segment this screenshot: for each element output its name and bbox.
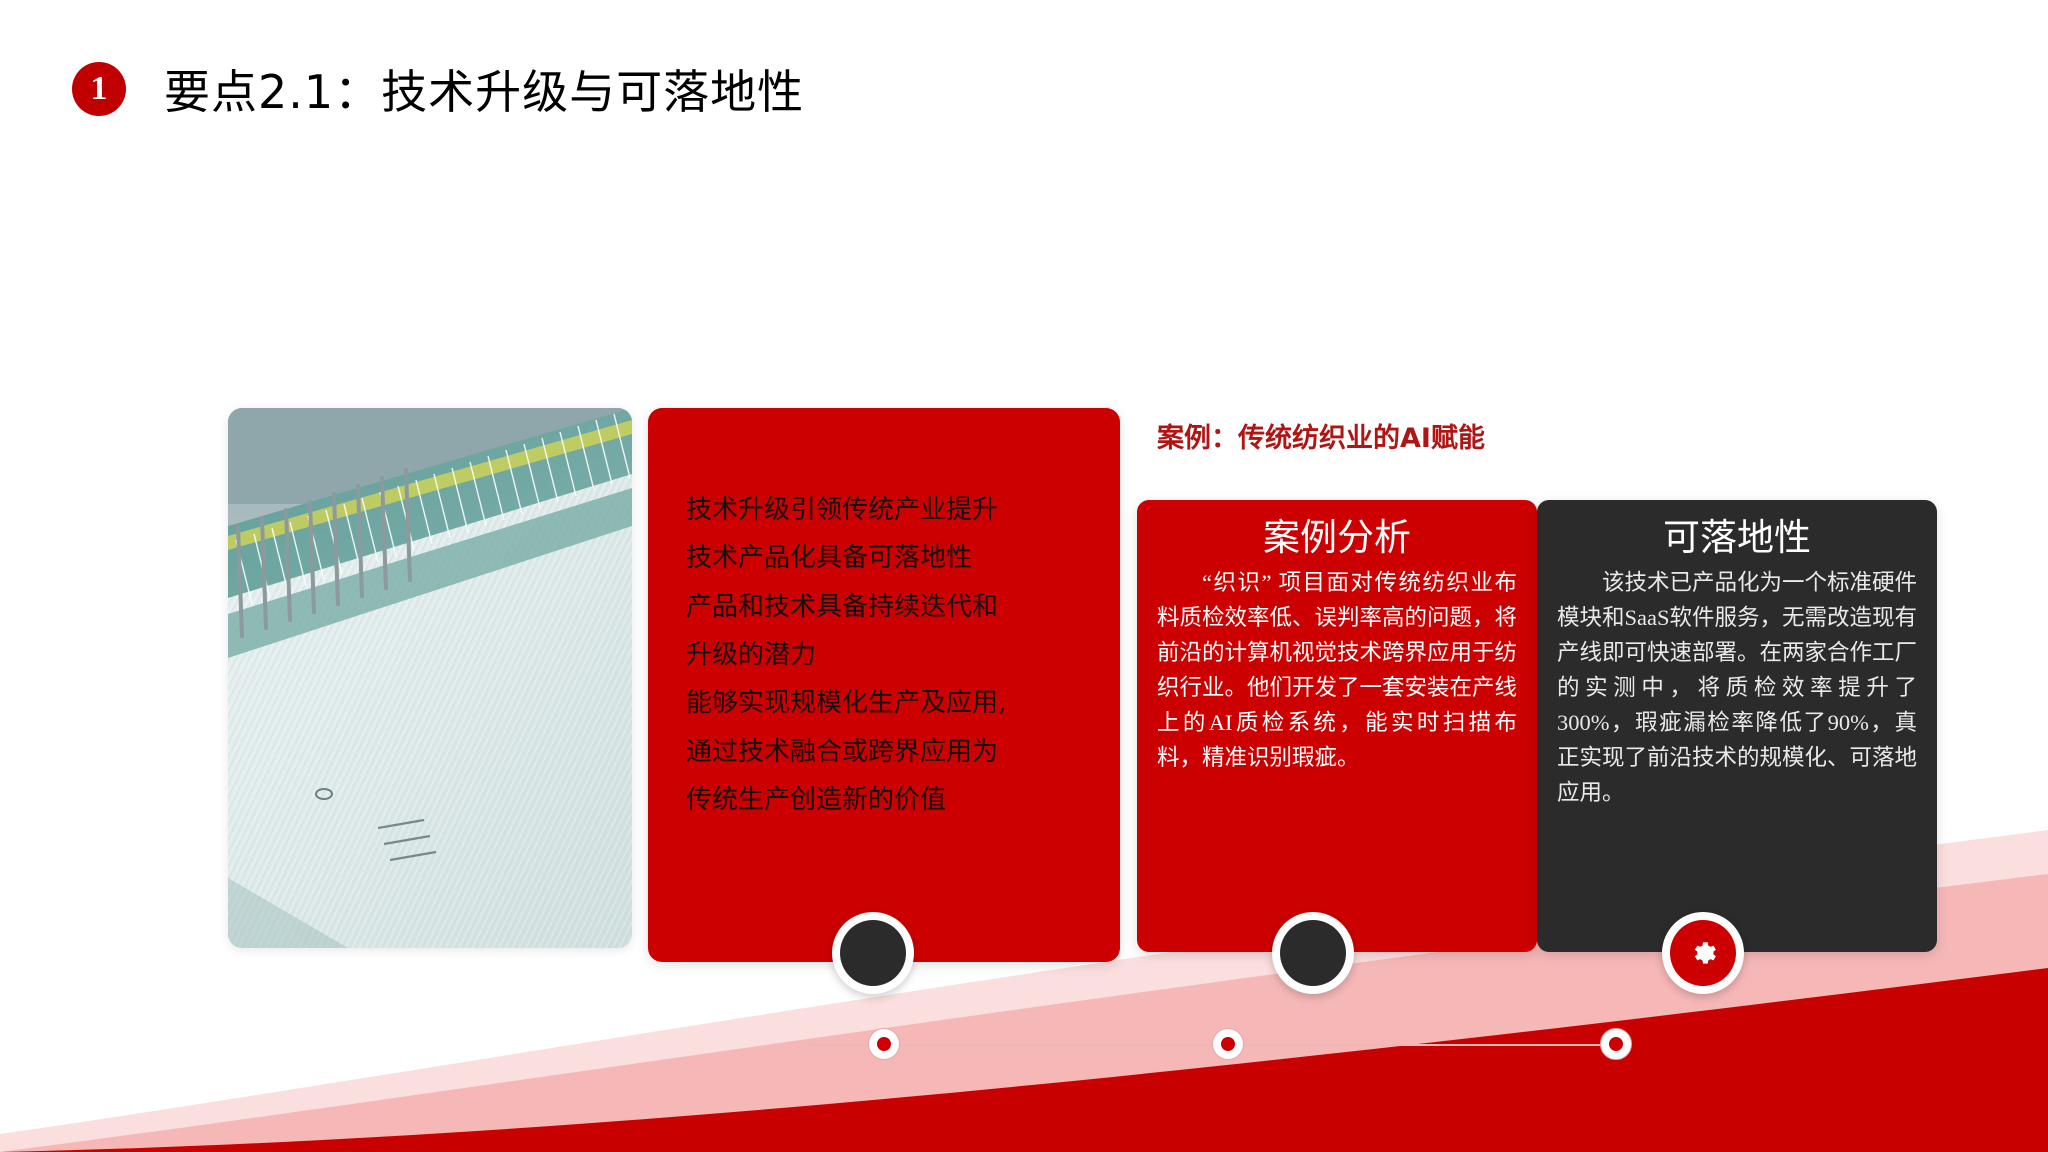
badge-landability[interactable] <box>1662 912 1744 994</box>
gear-icon-wrap <box>1670 920 1736 986</box>
page-title: 要点2.1：技术升级与可落地性 <box>164 56 804 122</box>
slide-root: 1 要点2.1：技术升级与可落地性 <box>0 0 2048 1152</box>
textile-loom-photo <box>228 408 632 948</box>
case-analysis-title: 案例分析 <box>1157 518 1517 561</box>
case-analysis-card: 案例分析 “织识” 项目面对传统纺织业布料质检效率低、误判率高的问题，将前沿的计… <box>1137 500 1537 952</box>
bullet-line: 技术产品化具备可落地性 <box>686 534 1086 582</box>
dot-icon <box>1609 1037 1623 1051</box>
gear-icon <box>1688 938 1718 968</box>
key-points-panel: 技术升级引领传统产业提升 技术产品化具备可落地性 产品和技术具备持续迭代和 升级… <box>648 408 1120 962</box>
landability-card: 可落地性 该技术已产品化为一个标准硬件模块和SaaS软件服务，无需改造现有产线即… <box>1537 500 1937 952</box>
case-heading: 案例：传统纺织业的AI赋能 <box>1157 416 1485 455</box>
bullet-line: 技术升级引领传统产业提升 <box>686 486 1086 534</box>
bullet-line: 传统生产创造新的价值 <box>686 776 1086 824</box>
progress-timeline <box>810 1028 1630 1062</box>
bullet-line: 升级的潜力 <box>686 631 1086 679</box>
photo-illustration <box>228 408 632 948</box>
case-analysis-body: “织识” 项目面对传统纺织业布料质检效率低、误判率高的问题，将前沿的计算机视觉技… <box>1157 565 1517 776</box>
slide-header: 1 要点2.1：技术升级与可落地性 <box>72 56 804 122</box>
timeline-dot-step-2[interactable] <box>1212 1028 1244 1060</box>
section-number-badge: 1 <box>72 62 126 116</box>
dot-icon <box>1221 1037 1235 1051</box>
landability-body: 该技术已产品化为一个标准硬件模块和SaaS软件服务，无需改造现有产线即可快速部署… <box>1557 565 1917 811</box>
circle-icon <box>1280 920 1346 986</box>
badge-case-analysis[interactable] <box>1272 912 1354 994</box>
timeline-dot-step-1[interactable] <box>868 1028 900 1060</box>
circle-icon <box>840 920 906 986</box>
bullet-line: 通过技术融合或跨界应用为 <box>686 728 1086 776</box>
badge-bullet-panel[interactable] <box>832 912 914 994</box>
landability-title: 可落地性 <box>1557 518 1917 561</box>
bullet-line: 能够实现规模化生产及应用, <box>686 679 1086 727</box>
timeline-dot-step-3[interactable] <box>1600 1028 1632 1060</box>
bullet-line: 产品和技术具备持续迭代和 <box>686 583 1086 631</box>
dot-icon <box>877 1037 891 1051</box>
